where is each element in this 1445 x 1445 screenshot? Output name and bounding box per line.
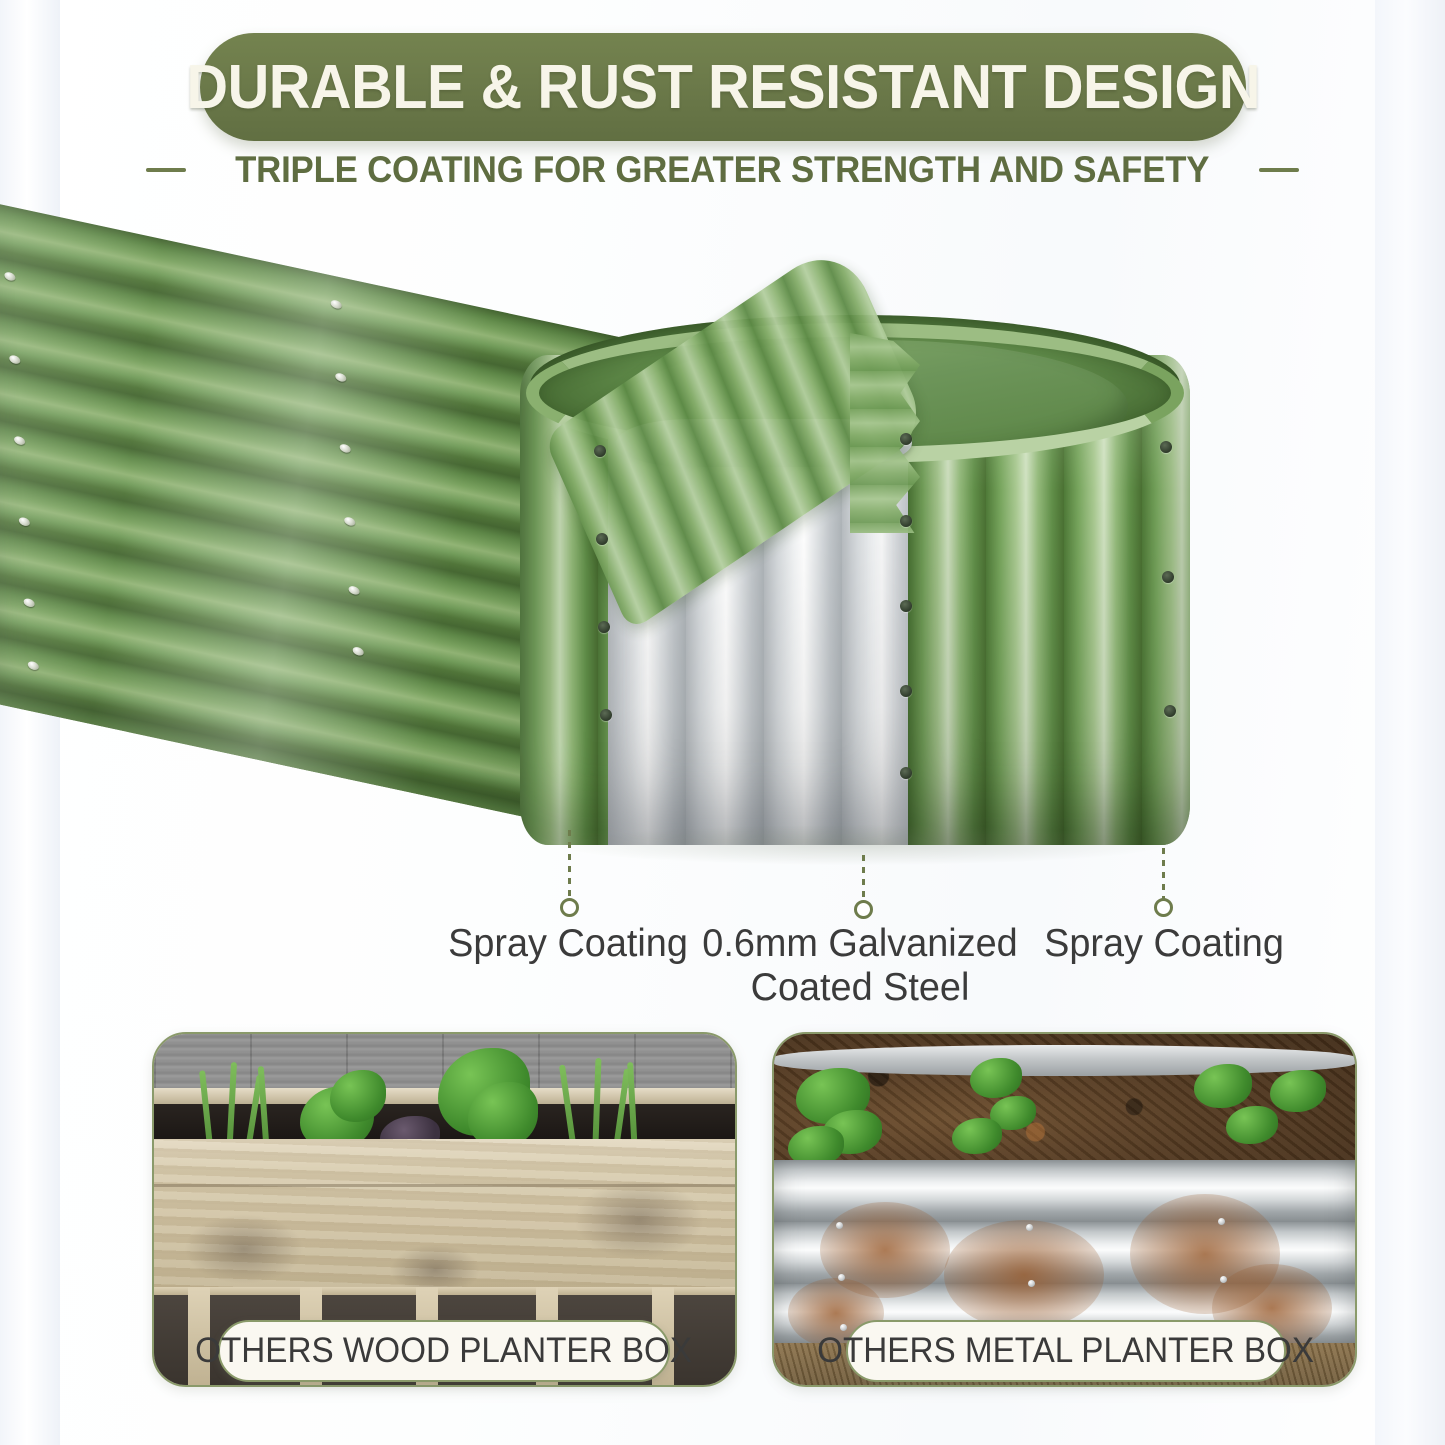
rivet-icon	[1218, 1218, 1225, 1225]
rivet-icon	[836, 1222, 843, 1229]
dash-left-icon	[146, 168, 186, 172]
infographic-page: DURABLE & RUST RESISTANT DESIGN TRIPLE C…	[0, 0, 1445, 1445]
screw-hole-icon	[1162, 571, 1174, 583]
screw-hole-icon	[900, 515, 912, 527]
page-subtitle: TRIPLE COATING FOR GREATER STRENGTH AND …	[235, 149, 1209, 191]
screw-hole-icon	[900, 600, 912, 612]
screw-hole-icon	[900, 685, 912, 697]
card-caption-wood-label: OTHERS WOOD PLANTER BOX	[196, 1331, 693, 1371]
wood-shelf-slat	[154, 1287, 735, 1295]
rivet-icon	[1220, 1276, 1227, 1283]
rivet-icon	[1028, 1280, 1035, 1287]
wood-weather-stain	[574, 1180, 704, 1260]
planter-drum	[520, 315, 1190, 845]
screw-hole-icon	[1164, 705, 1176, 717]
metal-planter-back-rim	[774, 1045, 1355, 1077]
rivet-icon	[838, 1274, 845, 1281]
screw-hole-icon	[596, 533, 608, 545]
subtitle-row: TRIPLE COATING FOR GREATER STRENGTH AND …	[0, 149, 1445, 191]
header-banner: DURABLE & RUST RESISTANT DESIGN	[200, 33, 1246, 141]
card-caption-metal-label: OTHERS METAL PLANTER BOX	[818, 1331, 1315, 1371]
rivet-icon	[840, 1324, 847, 1331]
dash-right-icon	[1259, 168, 1299, 172]
card-caption-wood: OTHERS WOOD PLANTER BOX	[218, 1320, 670, 1382]
screw-hole-icon	[1160, 441, 1172, 453]
screw-hole-icon	[900, 767, 912, 779]
planter-ground-shadow	[560, 825, 1160, 865]
screw-hole-icon	[594, 445, 606, 457]
page-title: DURABLE & RUST RESISTANT DESIGN	[186, 52, 1260, 123]
screw-hole-icon	[598, 621, 610, 633]
rust-stain	[944, 1220, 1104, 1330]
wood-weather-stain	[184, 1214, 304, 1284]
screw-hole-icon	[900, 433, 912, 445]
screw-hole-icon	[600, 709, 612, 721]
rivet-icon	[1026, 1224, 1033, 1231]
card-caption-metal: OTHERS METAL PLANTER BOX	[846, 1320, 1286, 1382]
hero-product-image	[0, 195, 1445, 915]
